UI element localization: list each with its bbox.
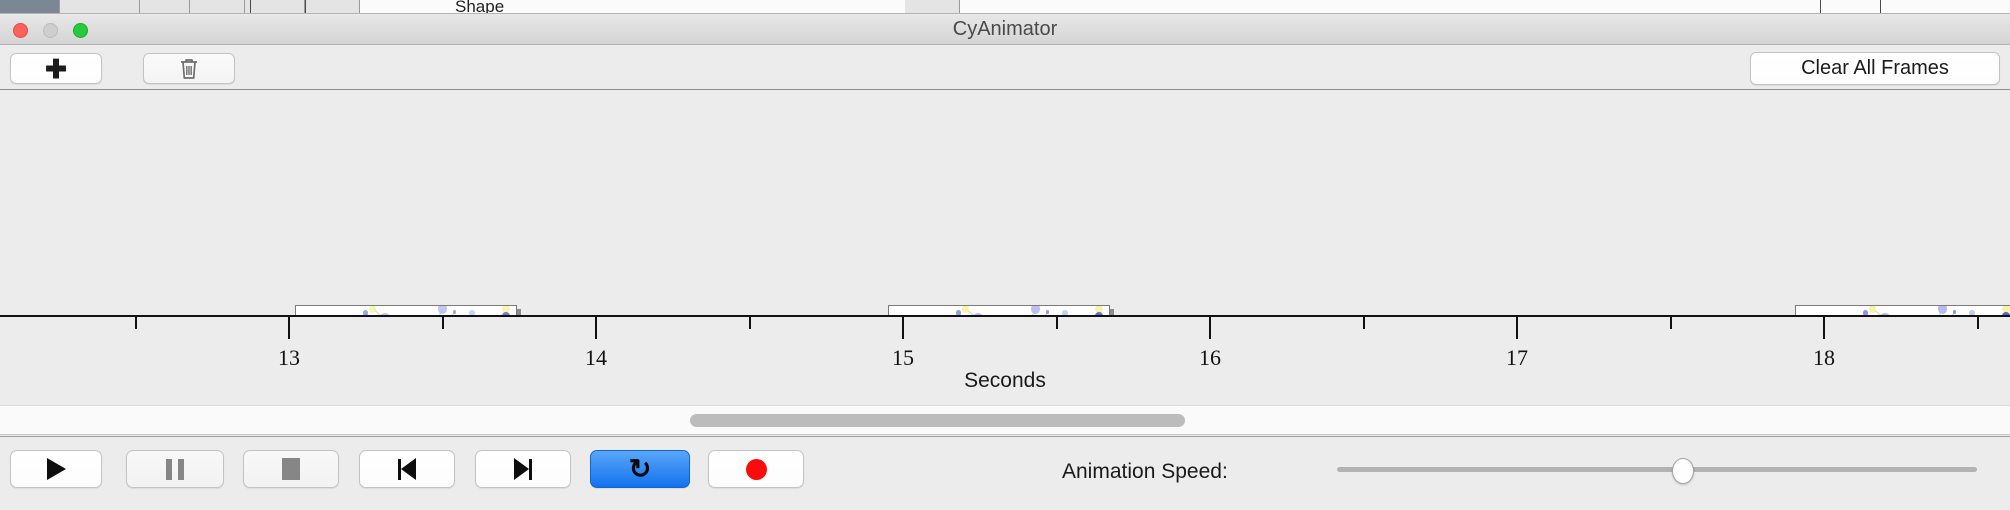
play-icon xyxy=(47,458,66,480)
graph-node xyxy=(1031,305,1041,314)
bg-tick xyxy=(305,0,306,14)
network-graph-preview: MCM1 xyxy=(295,305,517,317)
title-bar: CyAnimator xyxy=(0,14,2010,45)
axis-tick-label: 16 xyxy=(1199,345,1221,371)
delete-frame-button[interactable] xyxy=(143,53,235,84)
play-button[interactable] xyxy=(10,450,102,488)
bg-tick xyxy=(1820,0,1821,14)
bg-chip xyxy=(190,0,245,14)
bg-chip xyxy=(905,0,960,14)
axis-major-tick xyxy=(595,317,597,339)
frame-thumbnail[interactable]: MCM1 xyxy=(888,305,1110,317)
graph-edge xyxy=(1873,308,1919,317)
pause-button[interactable] xyxy=(126,450,224,488)
bg-chip xyxy=(305,0,360,14)
axis-minor-tick xyxy=(1977,317,1979,329)
stop-button[interactable] xyxy=(243,450,339,488)
graph-node xyxy=(438,305,448,314)
bg-chip xyxy=(140,0,190,14)
graph-node xyxy=(1062,310,1068,316)
axis-minor-tick xyxy=(135,317,137,329)
axis-title: Seconds xyxy=(0,369,2010,393)
graph-node xyxy=(956,310,962,316)
graph-node xyxy=(469,310,475,316)
record-button[interactable] xyxy=(708,450,804,488)
network-graph-preview: MCM1 xyxy=(1795,305,2010,317)
graph-node xyxy=(1938,305,1948,314)
clear-all-frames-label: Clear All Frames xyxy=(1801,57,1949,80)
skip-back-icon xyxy=(398,458,416,480)
trash-icon xyxy=(178,57,200,81)
axis-tick-label: 18 xyxy=(1813,345,1835,371)
skip-forward-icon xyxy=(514,458,532,480)
axis-minor-tick xyxy=(1056,317,1058,329)
background-window-label: Shape xyxy=(455,0,504,14)
bg-chip xyxy=(0,0,60,14)
network-graph-preview: MCM1 xyxy=(888,305,1110,317)
plus-icon: ✚ xyxy=(45,56,67,82)
animation-speed-slider-track[interactable] xyxy=(1337,467,1977,472)
timeline-track[interactable]: MCM1MCM1MCM1 xyxy=(0,90,2010,317)
loop-button[interactable]: ↻ xyxy=(590,450,690,488)
axis-major-tick xyxy=(1209,317,1211,339)
axis-tick-label: 13 xyxy=(278,345,300,371)
axis-tick-label: 17 xyxy=(1506,345,1528,371)
pause-icon xyxy=(166,459,184,480)
axis-minor-tick xyxy=(1670,317,1672,329)
clear-all-frames-button[interactable]: Clear All Frames xyxy=(1750,52,2000,85)
playback-bar: ↻ Animation Speed: xyxy=(0,436,2010,510)
skip-forward-button[interactable] xyxy=(475,450,571,488)
frame-thumbnail[interactable]: MCM1 xyxy=(295,305,517,317)
axis-minor-tick xyxy=(749,317,751,329)
bg-tick xyxy=(250,0,251,14)
animation-speed-slider-thumb[interactable] xyxy=(1672,458,1694,484)
axis-minor-tick xyxy=(1363,317,1365,329)
axis-tick-label: 15 xyxy=(892,345,914,371)
graph-node xyxy=(363,310,369,316)
axis-minor-tick xyxy=(442,317,444,329)
cyanimator-window: Shape CyAnimator ✚ Clear All Frames MCM1… xyxy=(0,0,2010,510)
axis-major-tick xyxy=(1823,317,1825,339)
graph-node xyxy=(1969,310,1975,316)
graph-node xyxy=(453,310,457,314)
animation-speed-label: Animation Speed: xyxy=(1062,460,1228,484)
record-icon xyxy=(746,459,767,480)
bg-chip xyxy=(245,0,305,14)
scrollbar-thumb[interactable] xyxy=(690,414,1185,427)
graph-node xyxy=(1953,310,1957,314)
axis-tick-label: 14 xyxy=(585,345,607,371)
time-axis: Seconds 2131415161718 xyxy=(0,317,2010,405)
bg-chip xyxy=(60,0,140,14)
window-title: CyAnimator xyxy=(0,14,2010,45)
skip-back-button[interactable] xyxy=(359,450,455,488)
axis-major-tick xyxy=(1516,317,1518,339)
graph-node xyxy=(1863,310,1869,316)
add-frame-button[interactable]: ✚ xyxy=(10,53,102,84)
frame-toolbar: ✚ Clear All Frames xyxy=(0,45,2010,90)
background-window-strip: Shape xyxy=(0,0,2010,14)
axis-major-tick xyxy=(902,317,904,339)
stop-icon xyxy=(282,458,300,480)
loop-icon: ↻ xyxy=(629,456,652,483)
bg-tick xyxy=(1880,0,1881,14)
axis-major-tick xyxy=(288,317,290,339)
graph-edge xyxy=(373,308,419,317)
graph-node xyxy=(1046,310,1050,314)
graph-edge xyxy=(966,308,1012,317)
timeline-scrollbar[interactable] xyxy=(0,405,2010,435)
frame-thumbnail[interactable]: MCM1 xyxy=(1795,305,2010,317)
